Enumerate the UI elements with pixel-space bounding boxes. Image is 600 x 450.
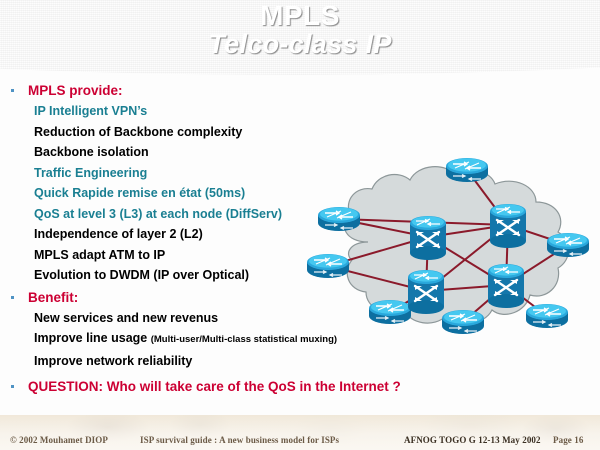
footer-page-number: Page 16 <box>553 435 583 445</box>
footer-guide-title: ISP survival guide : A new business mode… <box>140 435 339 445</box>
question-label: QUESTION: Who will take care of the QoS … <box>28 379 401 394</box>
network-diagram <box>300 130 600 360</box>
bullet-dot-icon <box>11 385 14 388</box>
bullet-dot-icon <box>11 296 14 299</box>
slide: MPLS Telco-class IP MPLS provide: IP Int… <box>0 0 600 450</box>
title-banner: MPLS Telco-class IP <box>0 0 600 78</box>
core-switch-northwest-icon <box>407 213 449 261</box>
list-item: IP Intelligent VPN’s <box>8 101 408 122</box>
core-switch-southeast-icon <box>485 261 527 309</box>
core-switch-southwest-icon <box>405 267 447 315</box>
slide-title-subtitle: Telco-class IP <box>0 31 600 58</box>
bullet-heading-mpls-provide: MPLS provide: <box>8 81 408 101</box>
core-switch-northeast-icon <box>487 201 529 249</box>
edge-router-top-icon <box>445 157 489 183</box>
bullet-heading-label: Benefit: <box>28 290 78 305</box>
edge-router-left-upper-icon <box>317 206 361 232</box>
bullet-heading-question: QUESTION: Who will take care of the QoS … <box>8 377 408 397</box>
slide-title-main: MPLS <box>0 2 600 30</box>
bullet-dot-icon <box>11 89 14 92</box>
title-block: MPLS Telco-class IP <box>0 2 600 58</box>
list-item-main: Improve line usage <box>34 331 151 345</box>
slide-body: MPLS provide: IP Intelligent VPN’s Reduc… <box>0 78 600 415</box>
bullet-heading-label: MPLS provide: <box>28 83 123 98</box>
footer-event: AFNOG TOGO G 12-13 May 2002 <box>404 435 541 445</box>
edge-router-right-upper-icon <box>546 232 590 258</box>
edge-router-bottom-right-icon <box>525 303 569 329</box>
edge-router-left-lower-icon <box>306 253 350 279</box>
edge-router-bottom-center-icon <box>441 309 485 335</box>
footer-copyright: © 2002 Mouhamet DIOP <box>10 435 108 445</box>
slide-footer: © 2002 Mouhamet DIOP ISP survival guide … <box>0 415 600 450</box>
